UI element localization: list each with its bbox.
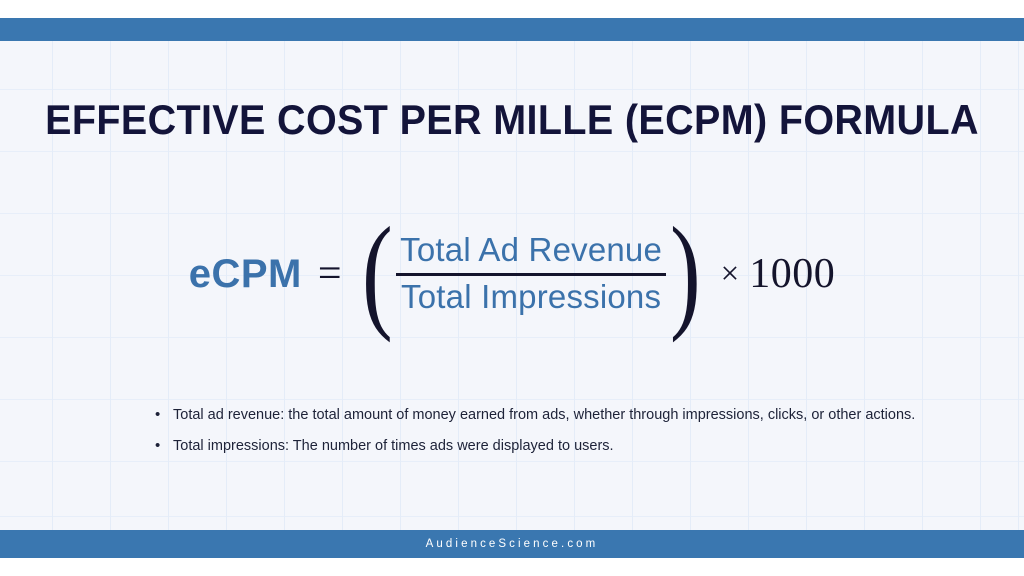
formula-equals-sign: =: [318, 253, 342, 295]
formula-multiplier-value: 1000: [749, 253, 835, 295]
list-item-text: Total ad revenue: the total amount of mo…: [173, 400, 925, 431]
formula-close-paren: ): [670, 226, 701, 318]
footer-bar: AudienceScience.com: [0, 530, 1024, 558]
list-item: • Total ad revenue: the total amount of …: [155, 400, 925, 431]
bullet-dot-icon: •: [155, 431, 173, 462]
bullet-dot-icon: •: [155, 400, 173, 431]
list-item: • Total impressions: The number of times…: [155, 431, 925, 462]
slide-canvas: EFFECTIVE COST PER MILLE (ECPM) FORMULA …: [0, 0, 1024, 576]
ecpm-formula: eCPM = ( Total Ad Revenue Total Impressi…: [0, 228, 1024, 320]
formula-numerator: Total Ad Revenue: [396, 231, 666, 270]
page-title: EFFECTIVE COST PER MILLE (ECPM) FORMULA: [31, 96, 994, 144]
top-accent-bar: [0, 18, 1024, 41]
formula-lhs-ecpm: eCPM: [189, 254, 302, 294]
formula-denominator: Total Impressions: [397, 278, 665, 317]
formula-multiply-icon: ×: [721, 258, 740, 291]
formula-fraction: Total Ad Revenue Total Impressions: [396, 231, 666, 317]
fraction-bar: [396, 273, 666, 276]
definition-list: • Total ad revenue: the total amount of …: [155, 400, 925, 462]
footer-brand-label: AudienceScience.com: [426, 538, 599, 550]
list-item-text: Total impressions: The number of times a…: [173, 431, 925, 462]
formula-open-paren: (: [361, 226, 392, 318]
